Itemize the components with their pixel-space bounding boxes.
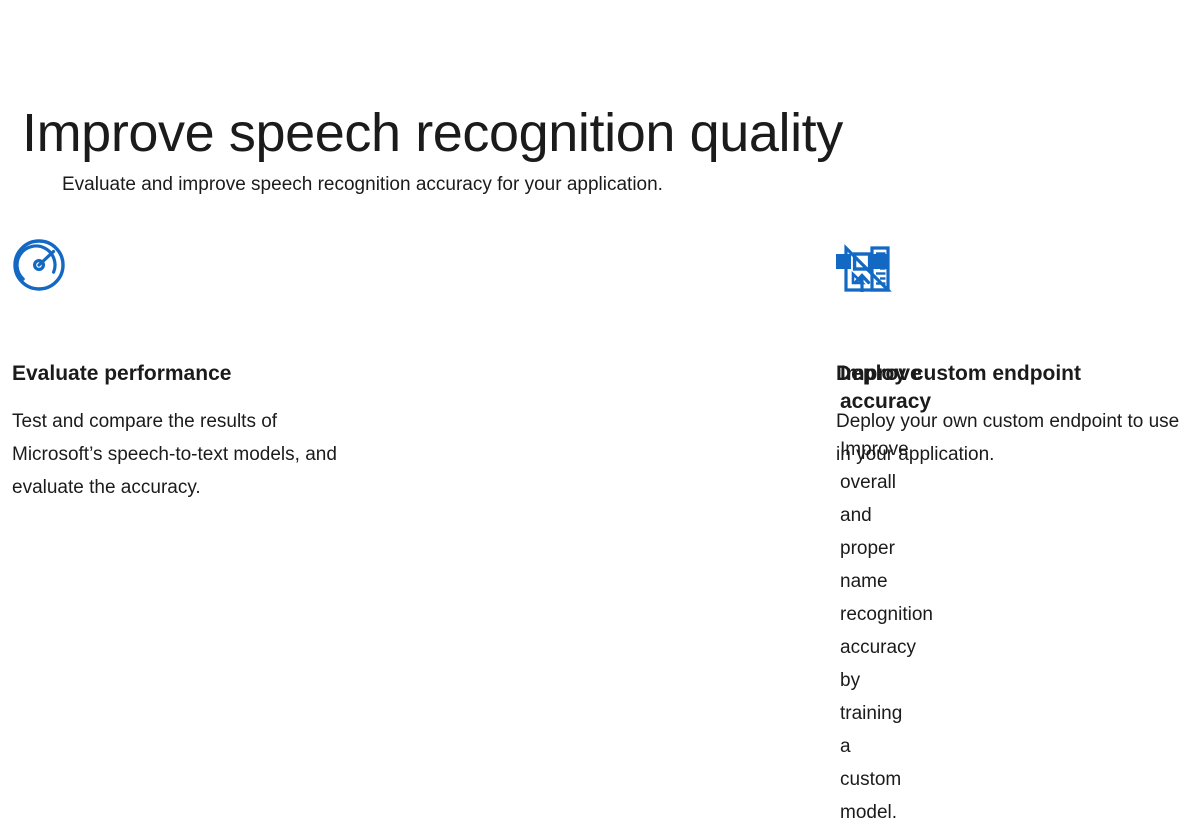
feature-card-body: Deploy your own custom endpoint to use i… xyxy=(836,388,1188,471)
page-title: Improve speech recognition quality xyxy=(22,98,843,168)
page-subtitle: Evaluate and improve speech recognition … xyxy=(62,171,663,199)
deploy-endpoint-icon xyxy=(836,236,1188,306)
feature-card-body: Test and compare the results of Microsof… xyxy=(12,388,364,504)
page-root: Improve speech recognition quality Evalu… xyxy=(0,0,1200,675)
feature-card-title: Deploy custom endpoint xyxy=(836,306,1188,388)
feature-card-deploy-endpoint: Deploy custom endpoint Deploy your own c… xyxy=(836,236,1196,471)
feature-card-evaluate-performance: Evaluate performance Test and compare th… xyxy=(6,236,398,504)
feature-card-improve-accuracy: Improve accuracy Improve overall and pro… xyxy=(420,236,840,829)
gauge-icon xyxy=(12,236,364,306)
feature-card-title: Evaluate performance xyxy=(12,306,364,388)
